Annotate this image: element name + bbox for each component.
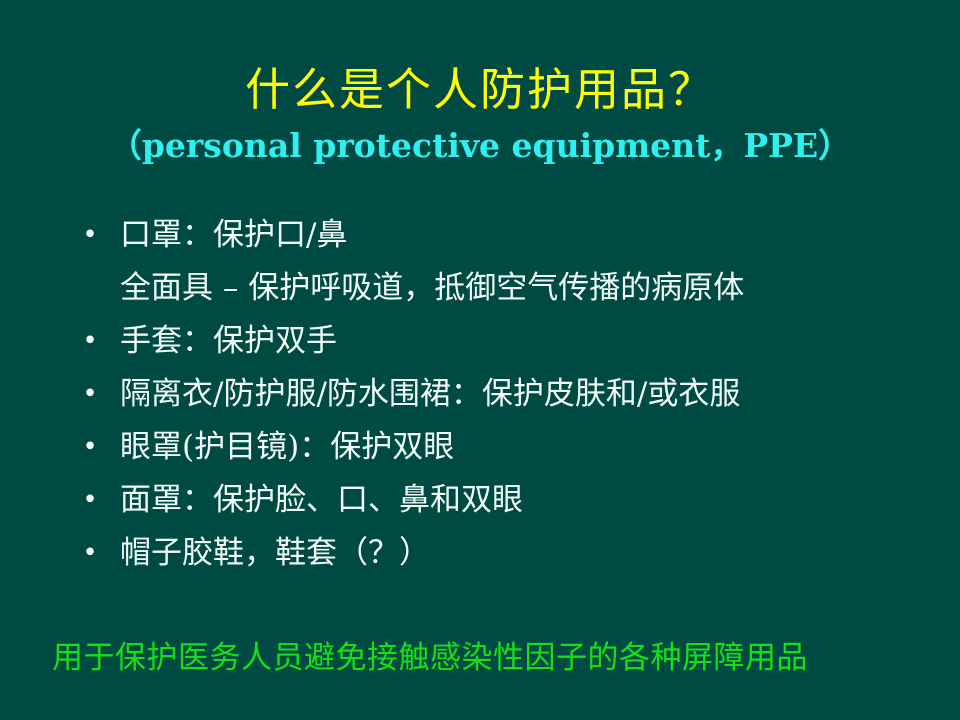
bullet-marker-icon: • [82, 315, 98, 368]
page-title: 什么是个人防护用品？ [0, 62, 960, 118]
list-item: 全面具 – 保护呼吸道，抵御空气传播的病原体 [74, 262, 934, 315]
list-item: • 面罩：保护脸、口、鼻和双眼 [74, 474, 934, 527]
list-item: • 眼罩(护目镜)：保护双眼 [74, 421, 934, 474]
bullet-marker-icon: • [82, 421, 98, 474]
list-item-label: 口罩：保护口/鼻 [120, 209, 934, 262]
list-item-label: 全面具 – 保护呼吸道，抵御空气传播的病原体 [120, 262, 934, 315]
bullet-marker-icon: • [82, 527, 98, 580]
list-item: • 帽子胶鞋，鞋套（？） [74, 527, 934, 580]
list-item-label: 隔离衣/防护服/防水围裙：保护皮肤和/或衣服 [120, 368, 934, 421]
list-item: • 隔离衣/防护服/防水围裙：保护皮肤和/或衣服 [74, 368, 934, 421]
slide-footer-note: 用于保护医务人员避免接触感染性因子的各种屏障用品 [52, 636, 932, 680]
bullet-marker-icon: • [82, 368, 98, 421]
ppe-bullet-list: • 口罩：保护口/鼻 全面具 – 保护呼吸道，抵御空气传播的病原体 • 手套：保… [74, 209, 934, 580]
bullet-marker-icon: • [82, 209, 98, 262]
list-item-label: 帽子胶鞋，鞋套（？） [120, 527, 934, 580]
title-block: 什么是个人防护用品？ （personal protective equipmen… [0, 62, 960, 168]
list-item: • 手套：保护双手 [74, 315, 934, 368]
page-subtitle: （personal protective equipment，PPE） [0, 124, 960, 168]
list-item-label: 眼罩(护目镜)：保护双眼 [120, 421, 934, 474]
list-item: • 口罩：保护口/鼻 [74, 209, 934, 262]
bullet-marker-icon: • [82, 474, 98, 527]
list-item-label: 面罩：保护脸、口、鼻和双眼 [120, 474, 934, 527]
presentation-slide: 什么是个人防护用品？ （personal protective equipmen… [0, 0, 960, 720]
list-item-label: 手套：保护双手 [120, 315, 934, 368]
